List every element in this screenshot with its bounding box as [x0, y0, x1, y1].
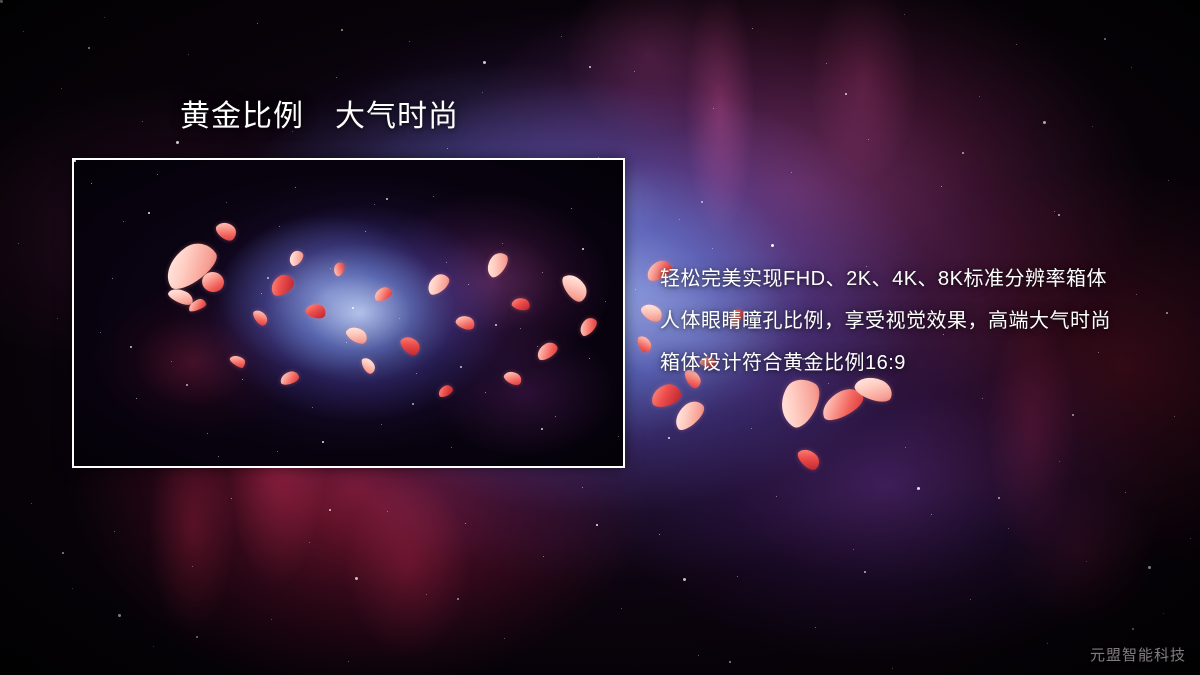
body-line-3: 箱体设计符合黄金比例16:9 — [660, 342, 1160, 384]
watermark-brand: 元盟智能科技 — [1090, 644, 1186, 665]
led-cabinet-preview-panel[interactable] — [72, 158, 625, 468]
page-title: 黄金比例 大气时尚 — [180, 100, 459, 134]
body-line-2: 人体眼睛瞳孔比例，享受视觉效果，高端大气时尚 — [660, 300, 1160, 342]
presentation-slide: 黄金比例 大气时尚 轻松完美实现FHD、2K、4K、8K标准分辨率箱体 人体眼睛… — [0, 0, 1200, 675]
body-copy: 轻松完美实现FHD、2K、4K、8K标准分辨率箱体 人体眼睛瞳孔比例，享受视觉效… — [660, 258, 1160, 384]
body-line-1: 轻松完美实现FHD、2K、4K、8K标准分辨率箱体 — [660, 258, 1160, 300]
panel-nebula-image — [74, 160, 623, 466]
